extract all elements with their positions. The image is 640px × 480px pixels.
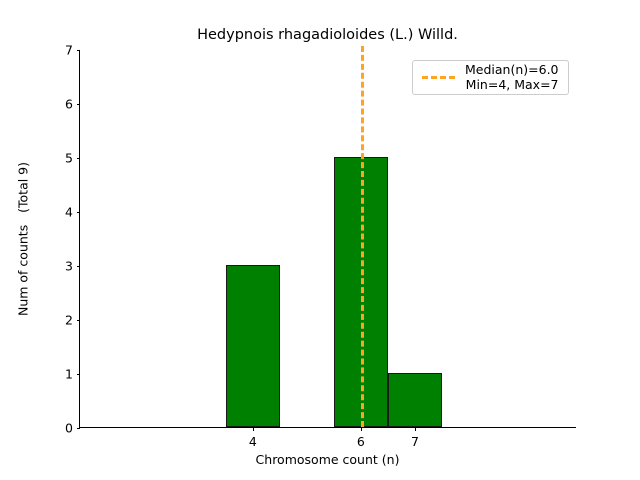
- legend-label-median: Median(n)=6.0: [465, 62, 559, 77]
- y-axis-tick: [77, 212, 81, 213]
- y-axis-tick: [77, 50, 81, 51]
- dashed-line-icon: [422, 76, 455, 79]
- y-axis-tick: [77, 428, 81, 429]
- x-axis-tick-label: 6: [357, 434, 365, 449]
- y-axis-tick: [77, 104, 81, 105]
- median-line: [361, 46, 364, 427]
- y-axis-tick: [77, 320, 81, 321]
- y-axis-tick-label: 0: [65, 421, 73, 436]
- y-axis-tick-label: 5: [65, 151, 73, 166]
- y-axis-tick-label: 4: [65, 205, 73, 220]
- chart-figure: Hedypnois rhagadioloides (L.) Willd. Num…: [0, 0, 640, 480]
- plot-inner: 01234567467: [80, 50, 576, 427]
- x-axis-tick: [253, 427, 254, 431]
- y-axis-label-container: Num of counts (Total 9): [13, 50, 33, 428]
- y-axis-label: Num of counts (Total 9): [16, 162, 31, 316]
- legend-entry-median: Median(n)=6.0 Min=4, Max=7: [422, 67, 559, 87]
- x-axis-tick: [361, 427, 362, 431]
- x-axis-label: Chromosome count (n): [79, 452, 576, 467]
- y-axis-tick: [77, 266, 81, 267]
- legend-labels: Median(n)=6.0 Min=4, Max=7: [465, 62, 559, 92]
- y-axis-tick: [77, 374, 81, 375]
- y-axis-tick: [77, 158, 81, 159]
- chart-legend: Median(n)=6.0 Min=4, Max=7: [412, 60, 569, 95]
- x-axis-tick-label: 4: [249, 434, 257, 449]
- legend-label-minmax: Min=4, Max=7: [466, 77, 559, 92]
- y-axis-tick-label: 6: [65, 97, 73, 112]
- plot-area: 01234567467: [79, 50, 576, 428]
- bar: [226, 265, 280, 427]
- x-axis-tick-label: 7: [411, 434, 419, 449]
- page-title: Hedypnois rhagadioloides (L.) Willd.: [79, 27, 576, 43]
- y-axis-tick-label: 2: [65, 313, 73, 328]
- y-axis-tick-label: 3: [65, 259, 73, 274]
- y-axis-label-text: Num of counts: [16, 225, 31, 316]
- y-axis-tick-label: 7: [65, 43, 73, 58]
- y-axis-total-text: (Total 9): [16, 162, 31, 213]
- y-axis-label-spacer: [16, 213, 31, 225]
- x-axis-tick: [415, 427, 416, 431]
- y-axis-tick-label: 1: [65, 367, 73, 382]
- bar: [388, 373, 442, 427]
